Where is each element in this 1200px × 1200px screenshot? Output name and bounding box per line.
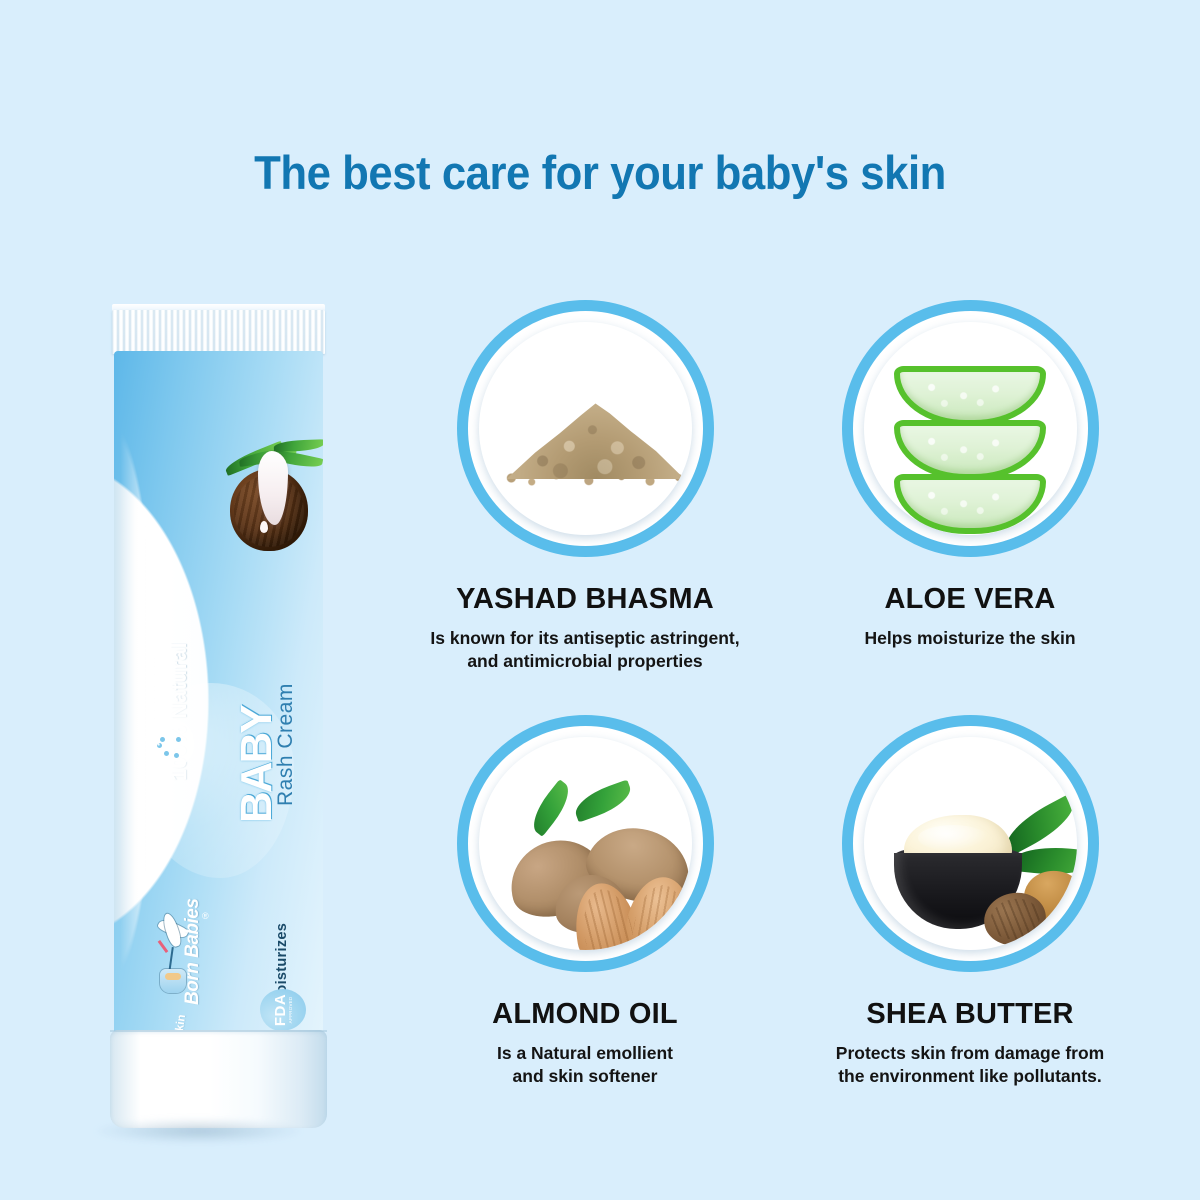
aloe-slice-shape (894, 420, 1046, 480)
tube-cap (110, 1030, 327, 1128)
ingredient-title: ALMOND OIL (385, 998, 785, 1031)
ingredient-card-aloe-vera: ALOE VERA Helps moisturize the skin (770, 300, 1170, 650)
tube-crimp-seal (112, 310, 325, 354)
ingredient-image-ring (457, 300, 714, 557)
ingredient-image (864, 322, 1077, 535)
ingredient-description: Helps moisturize the skin (770, 627, 1170, 650)
shea-butter-bowl-icon (864, 737, 1077, 950)
tube-body: 100% Natural BABY Rash Cream Protects th… (114, 351, 323, 1051)
coconut-milk-drop (260, 521, 268, 533)
ingredient-description: Protects skin from damage from the envir… (770, 1042, 1170, 1088)
product-image: 100% Natural BABY Rash Cream Protects th… (60, 280, 380, 1150)
ingredient-title: SHEA BUTTER (770, 998, 1170, 1031)
ingredient-image (479, 737, 692, 950)
aloe-slice-shape (894, 366, 1046, 426)
ingredient-description: Is a Natural emollient and skin softener (385, 1042, 785, 1088)
ingredient-title: YASHAD BHASMA (385, 583, 785, 616)
stork-beak-shape (158, 940, 169, 953)
powder-mound-icon (479, 322, 692, 535)
page-title: The best care for your baby's skin (42, 145, 1158, 200)
ingredient-image (479, 322, 692, 535)
almond-leaf-shape (570, 779, 635, 822)
ingredient-card-shea-butter: SHEA BUTTER Protects skin from damage fr… (770, 715, 1170, 1088)
ingredient-image-ring (457, 715, 714, 972)
tube-cap-seam (110, 1030, 327, 1032)
ingredient-title: ALOE VERA (770, 583, 1170, 616)
tube-drop-shadow (96, 1118, 301, 1144)
almonds-icon (479, 737, 692, 950)
ingredient-card-almond-oil: ALMOND OIL Is a Natural emollient and sk… (385, 715, 785, 1088)
aloe-vera-slices-icon (864, 322, 1077, 535)
tube-brand-name: Born Babies (182, 899, 204, 1005)
ingredient-image-ring (842, 300, 1099, 557)
tube-brand-registered-mark: ® (202, 911, 209, 921)
ingredient-description: Is known for its antiseptic astringent, … (385, 627, 785, 673)
aloe-slice-shape (894, 474, 1046, 534)
ingredients-grid: YASHAD BHASMA Is known for its antisepti… (385, 300, 1185, 1130)
ingredient-image-ring (842, 715, 1099, 972)
ingredient-card-yashad-bhasma: YASHAD BHASMA Is known for its antisepti… (385, 300, 785, 673)
cream-tube: 100% Natural BABY Rash Cream Protects th… (88, 288, 303, 1128)
tube-label: 100% Natural BABY Rash Cream Protects th… (114, 351, 323, 1051)
fda-badge-label: FDA (272, 989, 289, 1031)
powder-texture-shape (507, 397, 685, 479)
tube-product-type: Rash Cream (274, 683, 298, 806)
coconut-icon (222, 429, 318, 559)
fda-badge-sublabel: APPROVED (288, 989, 293, 1031)
almond-leaf-shape (525, 779, 577, 837)
ingredient-image (864, 737, 1077, 950)
